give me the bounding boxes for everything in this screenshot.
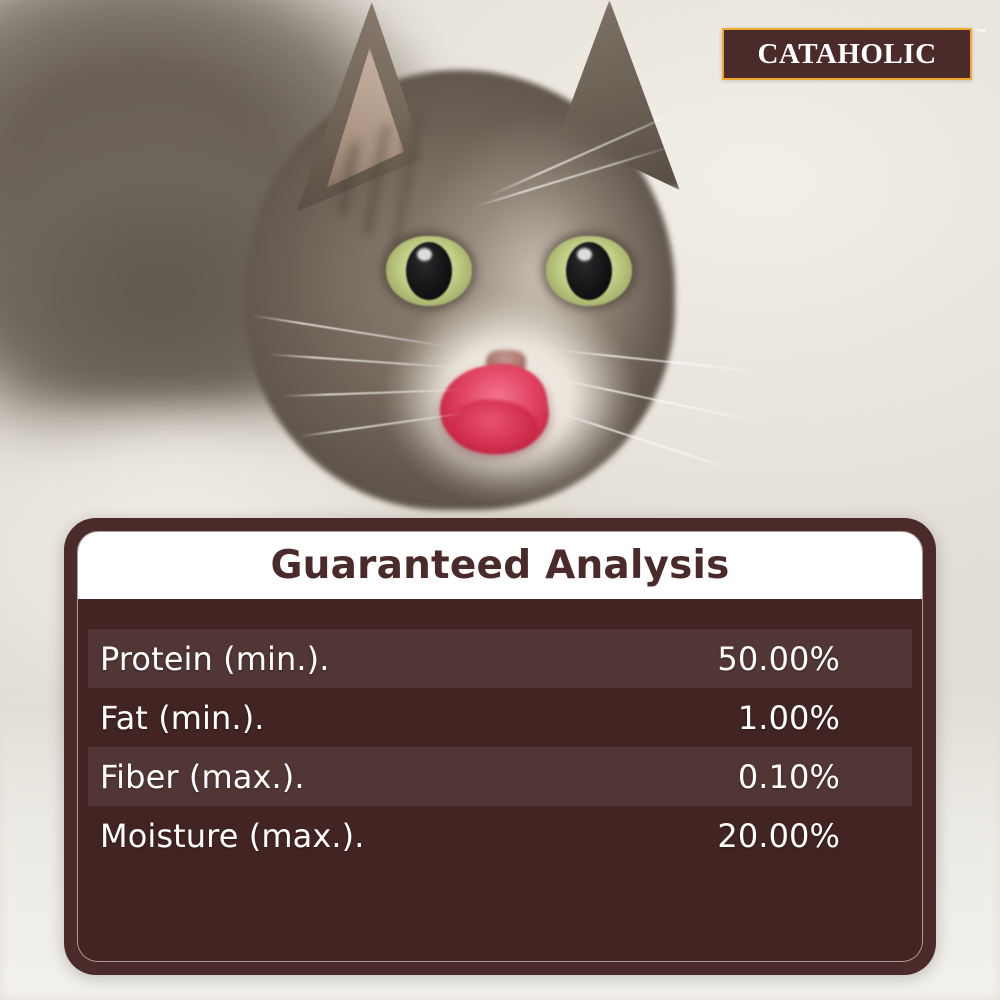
analysis-row: Protein (min.).50.00% [88,629,912,688]
analysis-row-label: Fat (min.). [100,699,265,737]
brand-logo: CATAHOLIC ™ [722,28,972,80]
cat-eye-left [386,236,472,306]
guaranteed-analysis-panel: Guaranteed Analysis Protein (min.).50.00… [64,518,936,975]
panel-header: Guaranteed Analysis [78,532,922,599]
analysis-table: Protein (min.).50.00%Fat (min.).1.00%Fib… [88,629,912,865]
analysis-row-label: Moisture (max.). [100,817,365,855]
analysis-row-value: 0.10% [738,758,840,796]
cat-eye-glint-right [577,248,592,261]
analysis-row: Moisture (max.).20.00% [88,806,912,865]
analysis-row-label: Protein (min.). [100,640,330,678]
panel-inner-frame: Guaranteed Analysis Protein (min.).50.00… [77,531,923,962]
analysis-row: Fiber (max.).0.10% [88,747,912,806]
analysis-row-value: 20.00% [717,817,840,855]
panel-body: Protein (min.).50.00%Fat (min.).1.00%Fib… [78,599,922,961]
analysis-row-value: 1.00% [738,699,840,737]
panel-title: Guaranteed Analysis [270,543,729,588]
analysis-row-label: Fiber (max.). [100,758,305,796]
trademark-symbol: ™ [976,28,986,39]
cat-eye-right [546,236,632,306]
analysis-row-value: 50.00% [717,640,840,678]
brand-logo-text: CATAHOLIC [757,38,936,71]
cat-eye-glint-left [417,248,432,261]
analysis-row: Fat (min.).1.00% [88,688,912,747]
